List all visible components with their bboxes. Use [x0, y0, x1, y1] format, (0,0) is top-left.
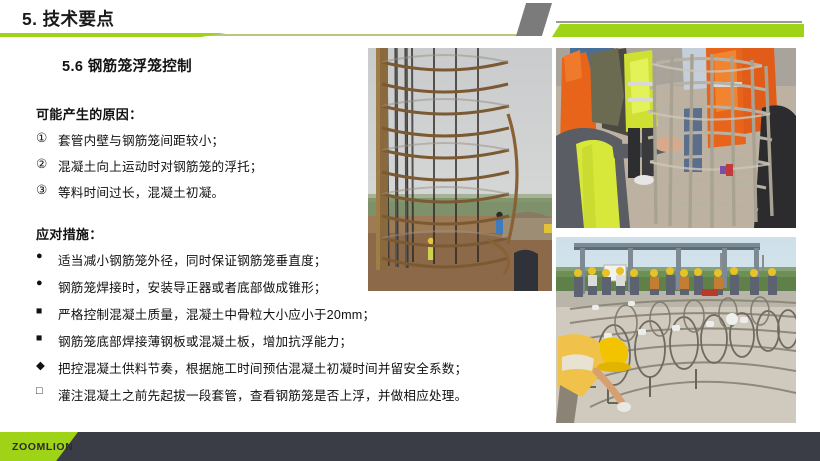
- list-marker: □: [36, 385, 58, 397]
- list-marker: ■: [36, 304, 58, 318]
- cause-item-2: ② 混凝土向上运动时对钢筋笼的浮托；: [36, 156, 263, 175]
- page-title: 5. 技术要点: [22, 6, 114, 31]
- list-marker: ●: [36, 277, 58, 289]
- measure-item-2: ● 钢筋笼焊接时，安装导正器或者底部做成锥形；: [36, 277, 327, 296]
- measure-item-6: □ 灌注混凝土之前先起拔一段套管，查看钢筋笼是否上浮，并做相应处理。: [36, 385, 467, 404]
- measure-item-5: ◆ 把控混凝土供料节奏，根据施工时间预估混凝土初凝时间并留安全系数；: [36, 358, 467, 377]
- header-grey-rule: [556, 21, 802, 23]
- list-marker: ■: [36, 331, 58, 345]
- measure-item-text: 钢筋笼焊接时，安装导正器或者底部做成锥形；: [58, 277, 327, 296]
- footer-bar: ZOOMLION: [0, 432, 820, 461]
- measure-item-text: 适当减小钢筋笼外径，同时保证钢筋笼垂直度；: [58, 250, 327, 269]
- list-marker: ●: [36, 250, 58, 262]
- section-subtitle: 5.6 钢筋笼浮笼控制: [62, 55, 192, 76]
- list-marker: ◆: [36, 358, 58, 372]
- cause-item-1: ① 套管内壁与钢筋笼间距较小；: [36, 130, 224, 149]
- header-green-band: [552, 24, 804, 37]
- rebar-cage-assembly-photo: [556, 237, 796, 423]
- causes-heading: 可能产生的原因：: [36, 104, 142, 123]
- cause-item-text: 套管内壁与钢筋笼间距较小；: [58, 130, 224, 149]
- measure-item-text: 钢筋笼底部焊接薄钢板或混凝土板，增加抗浮能力；: [58, 331, 352, 350]
- header-grey-parallelogram: [516, 3, 552, 36]
- brand-logo: ZOOMLION: [12, 441, 73, 453]
- measure-item-1: ● 适当减小钢筋笼外径，同时保证钢筋笼垂直度；: [36, 250, 327, 269]
- measure-item-text: 灌注混凝土之前先起拔一段套管，查看钢筋笼是否上浮，并做相应处理。: [58, 385, 467, 404]
- measures-heading: 应对措施：: [36, 224, 103, 243]
- list-marker: ①: [36, 130, 58, 145]
- header-green-tail: [0, 33, 226, 37]
- measure-item-text: 严格控制混凝土质量，混凝土中骨粒大小应小于20mm；: [58, 304, 375, 323]
- rebar-cage-vertical-photo: [368, 48, 552, 291]
- measure-item-3: ■ 严格控制混凝土质量，混凝土中骨粒大小应小于20mm；: [36, 304, 375, 323]
- slide: 5. 技术要点 5.6 钢筋笼浮笼控制 可能产生的原因： ① 套管内壁与钢筋笼间…: [0, 0, 820, 461]
- measure-item-text: 把控混凝土供料节奏，根据施工时间预估混凝土初凝时间并留安全系数；: [58, 358, 467, 377]
- cause-item-text: 等料时间过长，混凝土初凝。: [58, 182, 224, 201]
- list-marker: ②: [36, 156, 58, 171]
- list-marker: ③: [36, 182, 58, 197]
- rebar-cage-inspection-photo: [556, 48, 796, 228]
- cause-item-text: 混凝土向上运动时对钢筋笼的浮托；: [58, 156, 263, 175]
- measure-item-4: ■ 钢筋笼底部焊接薄钢板或混凝土板，增加抗浮能力；: [36, 331, 352, 350]
- cause-item-3: ③ 等料时间过长，混凝土初凝。: [36, 182, 224, 201]
